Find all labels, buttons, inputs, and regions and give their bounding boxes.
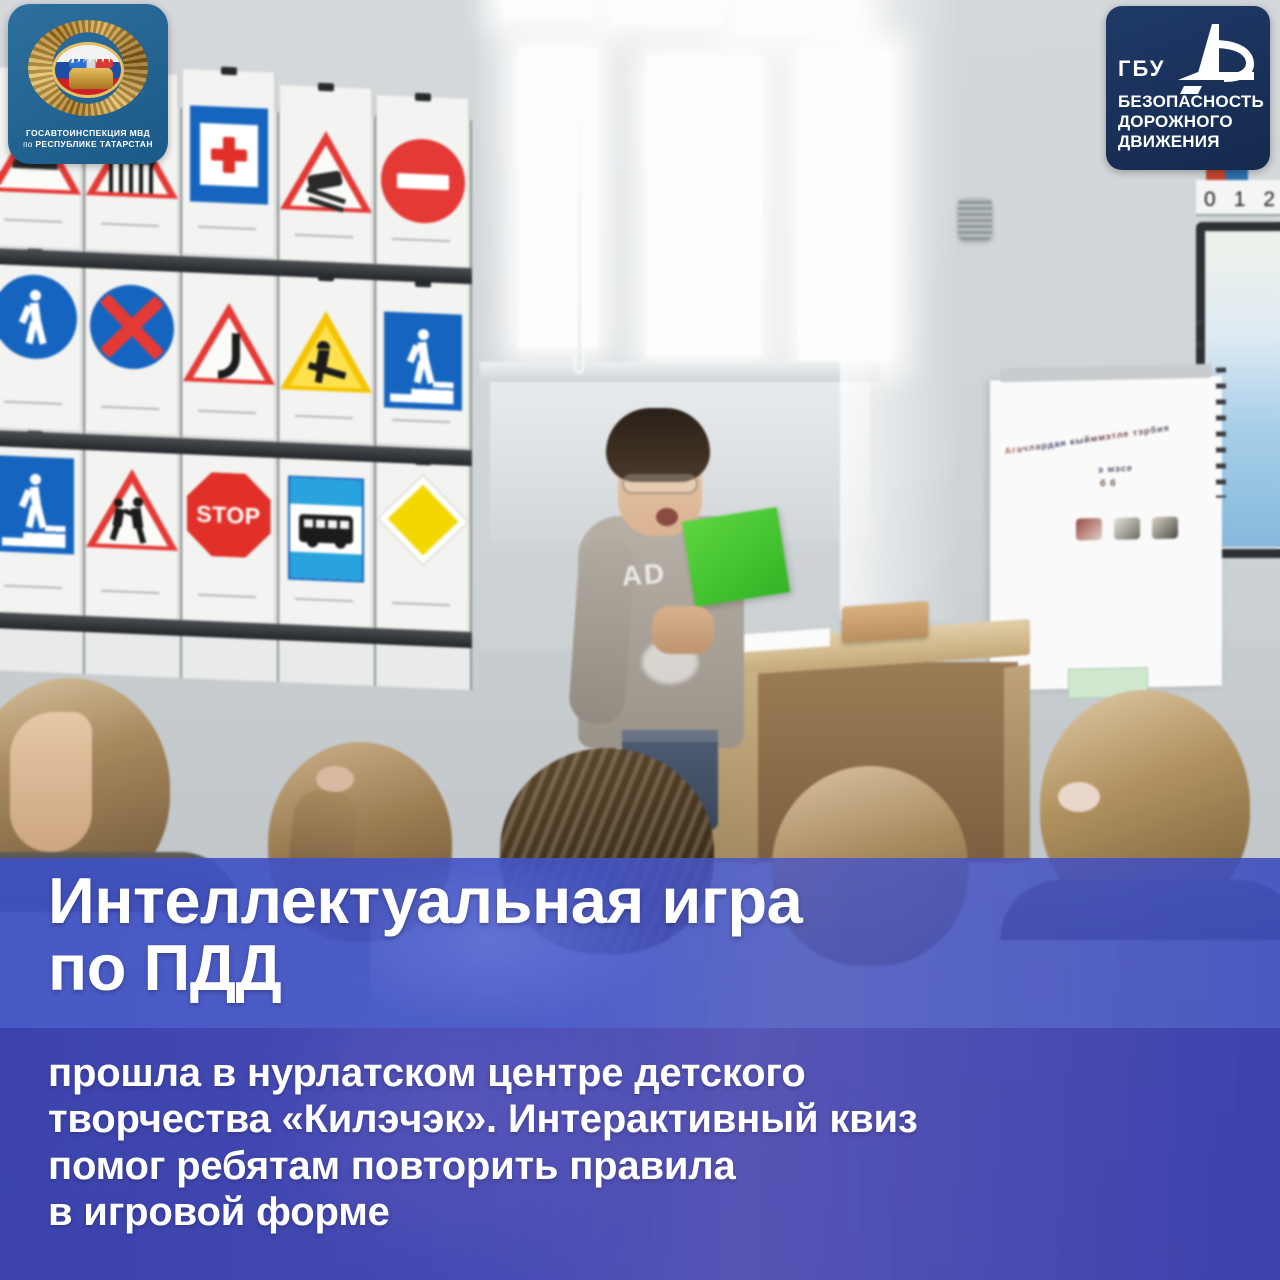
sign-card	[376, 458, 469, 632]
sign-underpass-square	[0, 455, 74, 554]
magnet	[1152, 516, 1178, 539]
card-caption-line	[392, 238, 450, 242]
card-caption-line	[295, 233, 353, 237]
glasses-icon	[622, 474, 698, 494]
sign-curve-triangle	[183, 301, 275, 385]
sign-children-triangle	[86, 467, 178, 551]
number-2: 2	[1263, 188, 1275, 212]
sign-card	[182, 266, 275, 440]
window-pane	[502, 0, 592, 18]
sign-card	[376, 94, 469, 268]
russian-flag-roundel	[52, 42, 124, 98]
sign-pedestrian-crossing-square	[384, 311, 462, 410]
sign-card	[279, 84, 372, 264]
traffic-sign-display-board: STOP	[0, 100, 472, 690]
sign-card	[182, 68, 275, 258]
card-clip	[415, 93, 431, 102]
page-title: Интеллектуальная игра по ПДД	[0, 858, 1280, 1002]
sign-priority-road-diamond	[392, 488, 454, 553]
card-caption-line	[198, 410, 256, 414]
stop-sign-label: STOP	[187, 471, 271, 559]
body-line1: прошла в нурлатском центре детского	[48, 1051, 806, 1095]
flipchart-text-top: Агачлардан кыйммэтле тэрбия	[1004, 423, 1170, 457]
body-band: прошла в нурлатском центре детского твор…	[0, 1028, 1280, 1280]
headline-line2: по ПДД	[48, 931, 281, 1004]
gbu-name-line1: БЕЗОПАСНОСТЬ	[1118, 92, 1262, 112]
window-pane	[610, 0, 722, 24]
cross-icon	[95, 288, 169, 365]
sign-card	[279, 452, 372, 628]
window-glow	[840, 0, 960, 620]
window-pane	[518, 48, 598, 348]
sign-pedestrian-path-circle	[0, 273, 77, 361]
gbu-name-line2: ДОРОЖНОГО	[1118, 112, 1262, 132]
body-line3: помог ребятам повторить правила	[48, 1144, 736, 1188]
card-caption-line	[101, 406, 159, 410]
boy-belt	[622, 730, 718, 742]
card-caption-line	[295, 415, 353, 419]
gbu-full-name: БЕЗОПАСНОСТЬ ДОРОЖНОГО ДВИЖЕНИЯ	[1118, 92, 1262, 152]
gbu-bdd-logo[interactable]: ГБУ БЕЗОПАСНОСТЬ ДОРОЖНОГО ДВИЖЕНИЯ	[1106, 6, 1270, 170]
flipchart-rings	[1216, 367, 1226, 497]
card-caption-line	[198, 226, 256, 230]
card-caption-line	[392, 419, 450, 423]
card-caption-line	[101, 223, 159, 227]
sign-bus-stop-square	[288, 475, 364, 582]
sign-roadworks-triangle	[280, 309, 372, 393]
card-caption-line	[4, 401, 62, 405]
board-divider	[470, 120, 472, 690]
sign-card	[376, 280, 469, 448]
flipchart-magnets	[1076, 516, 1186, 548]
body-line4: в игровой форме	[48, 1190, 390, 1234]
gbu-abbr: ГБУ	[1118, 56, 1165, 82]
patrol-car-icon	[69, 67, 113, 89]
card-caption-line	[392, 602, 450, 606]
sign-card	[0, 432, 81, 616]
flipchart-text-small: б б	[1100, 478, 1117, 488]
number-line-poster: 0 1 2	[1196, 180, 1280, 216]
sign-no-stopping-circle	[90, 283, 174, 371]
window-pane	[646, 56, 762, 356]
card-caption-line	[4, 585, 62, 589]
card-caption-line	[198, 594, 256, 598]
sign-first-aid-blue	[190, 105, 268, 204]
emblem-caption-line2: по РЕСПУБЛИКЕ ТАТАРСТАН	[8, 139, 168, 150]
card-clip	[318, 83, 334, 92]
headline-band: Интеллектуальная игра по ПДД	[0, 858, 1280, 1028]
gbu-monogram-icon	[1162, 22, 1258, 102]
sign-slippery-road-triangle	[280, 129, 372, 213]
caption-region: РЕСПУБЛИКЕ ТАТАРСТАН	[35, 139, 153, 149]
number-0: 0	[1204, 188, 1216, 212]
headline-line1: Интеллектуальная игра	[48, 864, 802, 937]
boy-hair	[606, 408, 710, 482]
hair-tie	[1058, 782, 1100, 812]
sign-no-entry-circle	[381, 137, 465, 225]
boy-mouth	[656, 508, 678, 526]
card-clip	[221, 67, 237, 76]
sign-card: STOP	[182, 446, 275, 624]
magnet	[1114, 517, 1140, 540]
gbu-name-line3: ДВИЖЕНИЯ	[1118, 132, 1262, 152]
boy-hands	[652, 606, 714, 654]
card-caption-line	[101, 589, 159, 593]
emblem-graphic	[24, 16, 152, 120]
gosavtoinspekciya-emblem[interactable]: ГОСАВТОИНСПЕКЦИЯ МВД по РЕСПУБЛИКЕ ТАТАР…	[8, 4, 168, 164]
blind-cord	[578, 60, 581, 360]
hair-tie	[316, 766, 354, 792]
body-line2: творчества «Килэчэк». Интерактивный квиз	[48, 1097, 918, 1141]
green-answer-card	[682, 507, 790, 607]
blind-cord-knob	[573, 350, 585, 374]
emblem-caption-line1: ГОСАВТОИНСПЕКЦИЯ МВД	[8, 128, 168, 139]
bus-icon	[299, 514, 353, 544]
sign-stop-octagon: STOP	[187, 471, 271, 559]
sign-card	[0, 250, 81, 432]
number-1: 1	[1234, 188, 1246, 212]
magnet	[1076, 518, 1102, 541]
student-face	[10, 712, 92, 852]
smoke-detector-icon	[958, 198, 992, 240]
body-text: прошла в нурлатском центре детского твор…	[0, 1028, 1280, 1236]
window-pane	[738, 0, 854, 34]
sign-card	[279, 274, 372, 444]
caption-prefix: по	[23, 140, 35, 149]
poster-card: 0 1 2 Агачлардан кыйммэтле тэрбия э мэсе…	[0, 0, 1280, 1280]
card-caption-line	[4, 219, 62, 223]
card-caption-line	[295, 598, 353, 602]
desk-right-panel	[1004, 664, 1030, 864]
flipchart-text-mid: э мэсе	[1098, 463, 1133, 475]
first-aid-cross-icon	[211, 136, 247, 174]
sign-card	[85, 258, 178, 436]
emblem-caption: ГОСАВТОИНСПЕКЦИЯ МВД по РЕСПУБЛИКЕ ТАТАР…	[8, 128, 168, 150]
cardboard-box	[842, 601, 928, 643]
window-sill	[480, 362, 880, 382]
sign-card	[85, 440, 178, 620]
